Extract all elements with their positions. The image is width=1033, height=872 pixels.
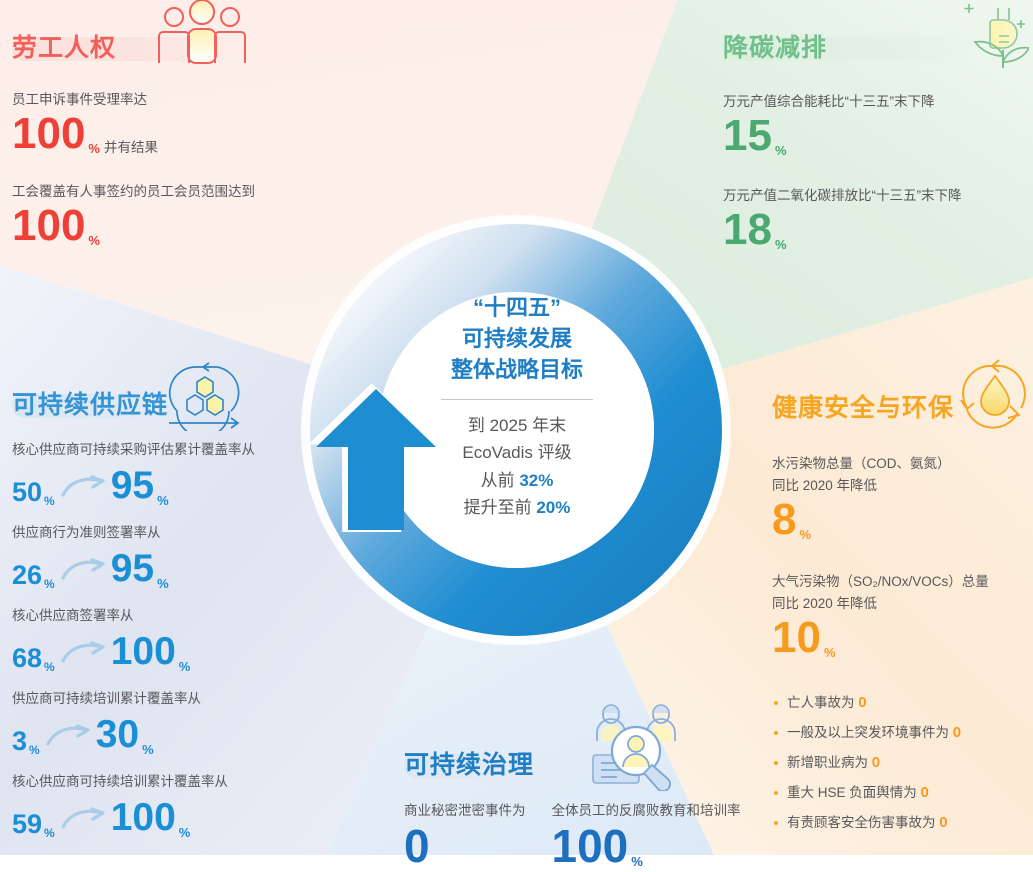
labor-metric-1-value-row: 100 % xyxy=(12,204,342,248)
gov-title: 可持续治理 xyxy=(404,745,534,785)
gov-title-row: 可持续治理 xyxy=(404,745,734,785)
section-sustainable-governance: 可持续治理 xyxy=(404,745,734,869)
labor-metric-1-unit: % xyxy=(88,233,100,248)
list-item: 一般及以上突发环境事件为 0 xyxy=(772,718,1033,748)
supply-metric-1-progress: 26 % 95 % xyxy=(12,547,312,591)
supply-metric-0-label: 核心供应商可持续采购评估累计覆盖率从 xyxy=(12,440,312,461)
carbon-metric-1-unit: % xyxy=(775,237,787,252)
supply-title-row: 可持续供应链 xyxy=(12,385,312,425)
health-metric-0-label-2: 同比 2020 年降低 xyxy=(772,476,1033,497)
supply-metric-4-to-unit: % xyxy=(179,825,191,840)
supply-metric-4-to: 100 xyxy=(111,796,176,840)
carbon-metric-1-value: 18 xyxy=(723,208,772,252)
progress-arrow-icon xyxy=(55,474,111,508)
gov-metric-1-value: 100 xyxy=(552,823,629,869)
list-item: 重大 HSE 负面舆情为 0 xyxy=(772,778,1033,808)
carbon-metric-0-label: 万元产值综合能耗比“十三五”末下降 xyxy=(723,92,1023,113)
health-metric-1-label-2: 同比 2020 年降低 xyxy=(772,594,1033,615)
center-title-line-0: “十四五” xyxy=(473,292,561,323)
labor-title: 劳工人权 xyxy=(12,28,116,68)
supply-metric-1-label: 供应商行为准则签署率从 xyxy=(12,523,312,544)
labor-title-row: 劳工人权 xyxy=(12,28,342,68)
center-sub-line-3-prefix: 从前 xyxy=(481,471,520,490)
three-people-icon xyxy=(157,0,247,73)
bullet-1-text: 一般及以上突发环境事件为 xyxy=(787,725,953,740)
list-item: 有责顾客安全伤害事故为 0 xyxy=(772,808,1033,838)
supply-metric-2-progress: 68 % 100 % xyxy=(12,630,312,674)
supply-metric-0-to-unit: % xyxy=(157,493,169,508)
carbon-metric-1-value-row: 18 % xyxy=(723,208,1023,252)
supply-metric-3-progress: 3 % 30 % xyxy=(12,713,312,757)
bullet-2-value: 0 xyxy=(872,754,880,771)
health-metric-1-label-1: 大气污染物（SO₂/NOx/VOCs）总量 xyxy=(772,572,1033,593)
health-metric-1-unit: % xyxy=(824,645,836,660)
gov-metric-1: 全体员工的反腐败教育和培训率 100 % xyxy=(552,801,741,869)
carbon-metric-0-value-row: 15 % xyxy=(723,114,1023,158)
labor-metric-1-label: 工会覆盖有人事签约的员工会员范围达到 xyxy=(12,182,342,203)
supply-metric-0-to: 95 xyxy=(111,464,154,508)
health-title: 健康安全与环保 xyxy=(772,388,954,428)
section-carbon-reduction: 降碳减排 万元产值综合能耗比“十三五”末下降 1 xyxy=(723,28,1023,252)
supply-metric-0: 核心供应商可持续采购评估累计覆盖率从 50 % 95 % xyxy=(12,440,312,508)
supply-metric-1-from: 26 xyxy=(12,560,42,591)
supply-metric-2: 核心供应商签署率从 68 % 100 % xyxy=(12,606,312,674)
supply-metric-3-label: 供应商可持续培训累计覆盖率从 xyxy=(12,689,312,710)
plug-plant-icon xyxy=(951,0,1029,75)
supply-metric-2-from-unit: % xyxy=(44,660,55,674)
gov-metric-0: 商业秘密泄密事件为 0 xyxy=(404,801,526,869)
carbon-metric-1-label: 万元产值二氧化碳排放比“十三五”末下降 xyxy=(723,186,1023,207)
progress-arrow-icon xyxy=(40,723,96,757)
bullet-0-value: 0 xyxy=(858,694,866,711)
bullet-4-text: 有责顾客安全伤害事故为 xyxy=(787,815,939,830)
bullet-1-value: 0 xyxy=(953,724,961,741)
supply-metric-3-from: 3 xyxy=(12,726,27,757)
health-zero-incident-list: 亡人事故为 0 一般及以上突发环境事件为 0 新增职业病为 0 重大 HSE 负… xyxy=(772,688,1033,838)
center-sub-line-3-value: 32% xyxy=(519,471,553,490)
labor-metric-0-value-row: 100 % 并有结果 xyxy=(12,112,342,156)
bullet-0-text: 亡人事故为 xyxy=(787,695,858,710)
gov-metrics: 商业秘密泄密事件为 0 全体员工的反腐败教育和培训率 100 % xyxy=(404,801,734,869)
gov-metric-1-value-row: 100 % xyxy=(552,823,741,869)
health-metric-1-value-row: 10 % xyxy=(772,616,1033,660)
carbon-metric-0: 万元产值综合能耗比“十三五”末下降 15 % xyxy=(723,92,1023,158)
gov-metric-0-label: 商业秘密泄密事件为 xyxy=(404,801,526,822)
people-magnifier-icon xyxy=(579,699,691,796)
health-title-row: 健康安全与环保 xyxy=(772,388,1033,428)
supply-metric-1: 供应商行为准则签署率从 26 % 95 % xyxy=(12,523,312,591)
supply-metric-3-to: 30 xyxy=(96,713,139,757)
center-sub-line-4-prefix: 提升至前 xyxy=(464,498,537,517)
section-health-safety-environment: 健康安全与环保 水污染物总量（COD、氨氮） 同比 2020 年降低 xyxy=(772,388,1033,838)
supply-metric-1-to: 95 xyxy=(111,547,154,591)
labor-metric-0-value: 100 xyxy=(12,112,85,156)
center-divider xyxy=(441,399,593,400)
carbon-metric-0-value: 15 xyxy=(723,114,772,158)
supply-metric-4-from-unit: % xyxy=(44,826,55,840)
supply-metric-3: 供应商可持续培训累计覆盖率从 3 % 30 % xyxy=(12,689,312,757)
bullet-3-value: 0 xyxy=(921,784,929,801)
labor-metric-1: 工会覆盖有人事签约的员工会员范围达到 100 % xyxy=(12,182,342,248)
section-labor-rights: 劳工人权 员工申诉事件受理率达 100 xyxy=(12,28,342,248)
supply-metric-4-from: 59 xyxy=(12,809,42,840)
supply-metric-0-from-unit: % xyxy=(44,494,55,508)
center-sub-line-4-value: 20% xyxy=(536,498,570,517)
carbon-metric-1: 万元产值二氧化碳排放比“十三五”末下降 18 % xyxy=(723,186,1023,252)
carbon-title: 降碳减排 xyxy=(723,28,827,68)
supply-metric-4: 核心供应商可持续培训累计覆盖率从 59 % 100 % xyxy=(12,772,312,840)
center-strategy-goal: “十四五” 可持续发展 整体战略目标 到 2025 年末 EcoVadis 评级… xyxy=(422,292,612,572)
supply-title: 可持续供应链 xyxy=(12,385,168,425)
center-sub-line-3: 从前 32% xyxy=(481,467,554,495)
supply-metric-1-to-unit: % xyxy=(157,576,169,591)
center-sub-line-4: 提升至前 20% xyxy=(464,494,571,522)
supply-metric-2-to-unit: % xyxy=(179,659,191,674)
gov-metric-1-unit: % xyxy=(631,854,643,869)
health-metric-0-value-row: 8 % xyxy=(772,498,1033,542)
labor-metric-0-label: 员工申诉事件受理率达 xyxy=(12,90,342,111)
supply-metric-3-from-unit: % xyxy=(29,743,40,757)
progress-arrow-icon xyxy=(55,557,111,591)
progress-arrow-icon xyxy=(55,640,111,674)
supply-metric-0-progress: 50 % 95 % xyxy=(12,464,312,508)
gov-metric-1-label: 全体员工的反腐败教育和培训率 xyxy=(552,801,741,822)
labor-metric-0-suffix: 并有结果 xyxy=(104,136,158,156)
section-sustainable-supply-chain: 可持续供应链 核心供应商可持续采购评估累计覆盖率从 50 % xyxy=(12,385,312,840)
health-metric-1-value: 10 xyxy=(772,616,821,660)
water-drop-cycle-icon xyxy=(955,358,1033,439)
bullet-2-text: 新增职业病为 xyxy=(787,755,872,770)
supply-metric-3-to-unit: % xyxy=(142,742,154,757)
center-sub-line-1: 到 2025 年末 xyxy=(468,412,566,440)
supply-metric-2-label: 核心供应商签署率从 xyxy=(12,606,312,627)
gov-metric-0-value: 0 xyxy=(404,823,430,869)
labor-metric-1-value: 100 xyxy=(12,204,85,248)
progress-arrow-icon xyxy=(55,806,111,840)
gov-metric-0-value-row: 0 xyxy=(404,823,526,869)
supply-metric-4-label: 核心供应商可持续培训累计覆盖率从 xyxy=(12,772,312,793)
list-item: 亡人事故为 0 xyxy=(772,688,1033,718)
center-title-line-1: 可持续发展 xyxy=(462,323,572,354)
health-metric-1: 大气污染物（SO₂/NOx/VOCs）总量 同比 2020 年降低 10 % xyxy=(772,572,1033,660)
bullet-4-value: 0 xyxy=(939,814,947,831)
carbon-metric-0-unit: % xyxy=(775,143,787,158)
bullet-3-text: 重大 HSE 负面舆情为 xyxy=(787,785,921,800)
supply-metric-2-from: 68 xyxy=(12,643,42,674)
health-metric-0-label-1: 水污染物总量（COD、氨氮） xyxy=(772,454,1033,475)
supply-metric-0-from: 50 xyxy=(12,477,42,508)
supply-metric-2-to: 100 xyxy=(111,630,176,674)
health-metric-0: 水污染物总量（COD、氨氮） 同比 2020 年降低 8 % xyxy=(772,454,1033,542)
labor-metric-0-unit: % xyxy=(88,141,100,156)
carbon-title-row: 降碳减排 xyxy=(723,28,1023,68)
center-title-line-2: 整体战略目标 xyxy=(451,354,583,385)
supply-metric-4-progress: 59 % 100 % xyxy=(12,796,312,840)
center-sub-line-2: EcoVadis 评级 xyxy=(462,439,571,467)
health-metric-0-unit: % xyxy=(799,527,811,542)
health-metric-0-value: 8 xyxy=(772,498,796,542)
hexagon-cycle-icon xyxy=(165,355,245,436)
supply-metric-1-from-unit: % xyxy=(44,577,55,591)
labor-metric-0: 员工申诉事件受理率达 100 % 并有结果 xyxy=(12,90,342,156)
list-item: 新增职业病为 0 xyxy=(772,748,1033,778)
